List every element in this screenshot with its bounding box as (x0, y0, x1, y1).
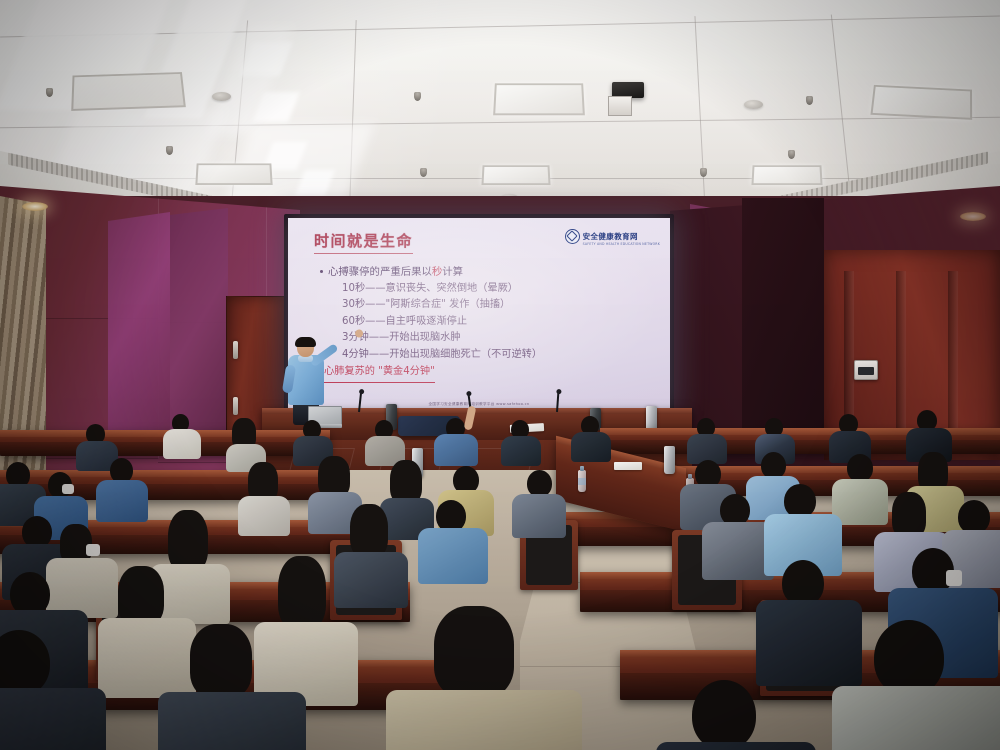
recessed-light-panel (751, 165, 822, 185)
slide-bullet: 心搏骤停的严重后果以秒计算 (320, 264, 658, 281)
slide-line: 10秒——意识丧失、突然倒地（晕厥） (342, 281, 658, 298)
ceiling-downlight (960, 212, 986, 221)
wall-panel-dark (742, 198, 824, 450)
ceiling-downlight (22, 202, 48, 211)
wall-panel-purple (108, 212, 170, 438)
wall-panel-purple (170, 208, 228, 440)
slide-title: 时间就是生命 (314, 230, 413, 254)
slide-line: 30秒——"阿斯综合症" 发作（抽搐） (342, 297, 658, 314)
door-seam (948, 271, 958, 439)
door-handle[interactable] (233, 397, 238, 415)
sprinkler-head (806, 96, 813, 105)
hvac-control-panel[interactable] (854, 360, 878, 380)
face-mask (946, 570, 962, 586)
control-panel-display (858, 367, 874, 375)
slide-body: 心搏骤停的严重后果以秒计算 10秒——意识丧失、突然倒地（晕厥） 30秒——"阿… (320, 264, 658, 383)
recessed-light-panel (481, 165, 550, 185)
projection-screen: 安全健康教育网 SAFETY AND HEALTH EDUCATION NETW… (288, 218, 670, 412)
slide-line: 60秒——自主呼吸逐渐停止 (342, 314, 658, 331)
logo-name-en: SAFETY AND HEALTH EDUCATION NETWORK (583, 243, 660, 246)
presenter-hair (295, 337, 316, 347)
water-bottle (578, 470, 586, 492)
presentation-slide: 安全健康教育网 SAFETY AND HEALTH EDUCATION NETW… (288, 218, 670, 412)
logo-text: 安全健康教育网 SAFETY AND HEALTH EDUCATION NETW… (583, 226, 660, 246)
slide-line: 4分钟——开始出现脑细胞死亡（不可逆转） (342, 347, 658, 364)
face-mask (62, 484, 74, 494)
bullet-dot (320, 270, 323, 273)
lecture-room-photo: 安全健康教育网 SAFETY AND HEALTH EDUCATION NETW… (0, 0, 1000, 750)
sprinkler-head (414, 92, 421, 101)
slide-footer: 全国学习安全健康教育网培训教学平台 www.safehoo.cn (288, 402, 670, 407)
shield-emblem-icon (565, 229, 580, 244)
slide-logo: 安全健康教育网 SAFETY AND HEALTH EDUCATION NETW… (565, 226, 660, 246)
bullet-highlight: 秒 (432, 266, 442, 278)
bullet-suffix: 计算 (442, 266, 463, 278)
recessed-light-panel (493, 83, 585, 115)
slide-emphasis-line: 心肺复苏的 "黄金4分钟" (324, 364, 435, 383)
smoke-detector (212, 92, 231, 101)
door-seam (896, 271, 906, 439)
sprinkler-head (166, 146, 173, 155)
papers-on-desk (614, 462, 642, 470)
face-mask (86, 544, 100, 556)
door-handle[interactable] (233, 341, 238, 359)
smoke-detector (744, 100, 763, 109)
projector-mount-plate (608, 96, 632, 116)
sprinkler-head (420, 168, 427, 177)
sprinkler-head (46, 88, 53, 97)
slide-line: 3分钟——开始出现脑水肿 (342, 330, 658, 347)
recessed-light-panel (195, 163, 272, 185)
logo-name-cn: 安全健康教育网 (583, 232, 638, 241)
recessed-light-panel (71, 72, 186, 111)
sprinkler-head (700, 168, 707, 177)
thermos-flask (664, 446, 675, 474)
bullet-text: 心搏骤停的严重后果以秒计算 (328, 264, 463, 281)
recessed-light-panel (870, 85, 972, 120)
sprinkler-head (788, 150, 795, 159)
bullet-prefix: 心搏骤停的严重后果以 (328, 266, 432, 278)
